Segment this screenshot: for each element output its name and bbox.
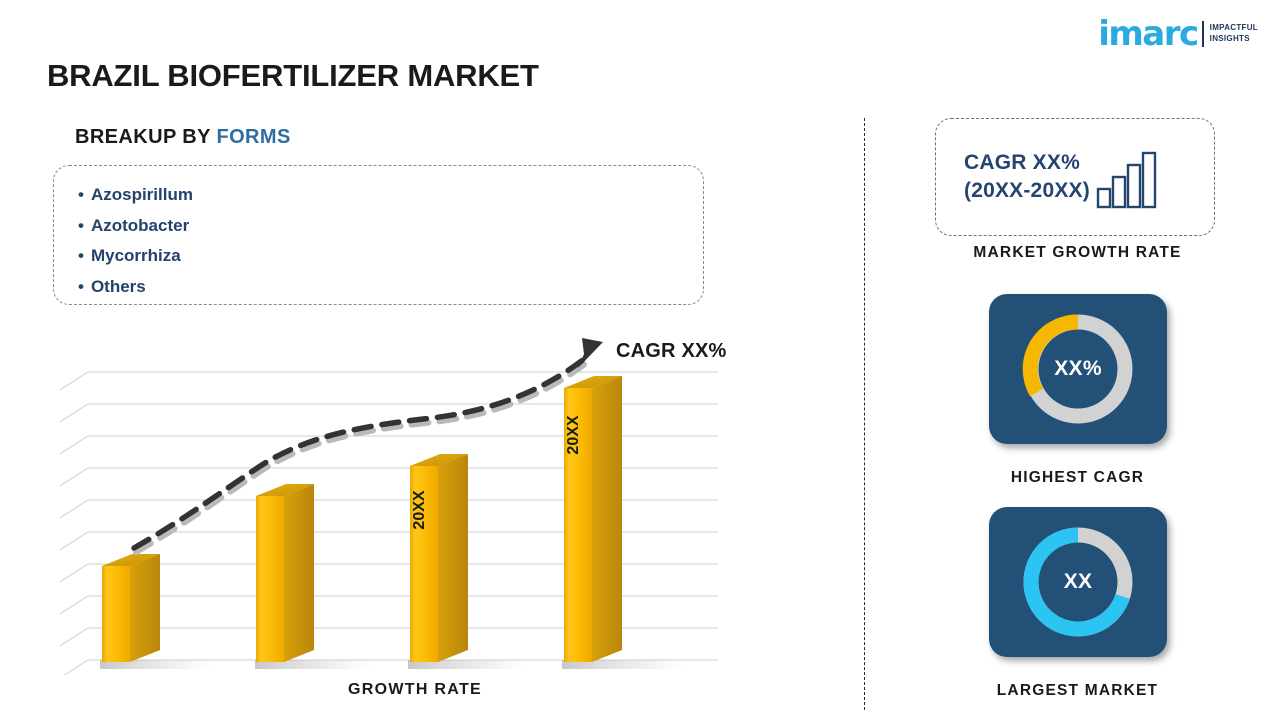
chart-bar-3-label: 20XX xyxy=(411,490,428,529)
highest-cagr-caption: HIGHEST CAGR xyxy=(880,469,1275,487)
largest-market-tile: XX xyxy=(989,507,1167,657)
breakup-heading-accent: FORMS xyxy=(216,126,290,148)
bullet-icon: • xyxy=(78,246,84,265)
largest-market-value: XX xyxy=(1064,570,1093,594)
list-item-label: Mycorrhiza xyxy=(91,246,181,265)
breakup-heading: BREAKUP BY FORMS xyxy=(75,126,291,149)
imarc-logo: imarc IMPACTFUL INSIGHTS xyxy=(1098,14,1258,54)
logo-tagline: IMPACTFUL INSIGHTS xyxy=(1210,23,1258,45)
list-item: •Mycorrhiza xyxy=(78,241,703,272)
page-title: BRAZIL BIOFERTILIZER MARKET xyxy=(47,58,539,94)
arrowhead-icon xyxy=(578,338,603,368)
list-item: •Others xyxy=(78,272,703,303)
market-growth-rate-line1: CAGR XX% xyxy=(964,149,1090,177)
chart-x-axis-label: GROWTH RATE xyxy=(348,681,482,699)
market-growth-rate-card: CAGR XX% (20XX-20XX) xyxy=(935,118,1215,236)
largest-market-caption: LARGEST MARKET xyxy=(880,682,1275,700)
logo-divider xyxy=(1202,21,1204,47)
logo-wordmark: imarc xyxy=(1098,17,1197,51)
chart-bar-3: 20XX xyxy=(410,454,468,662)
panel-divider xyxy=(864,118,865,710)
breakup-heading-prefix: BREAKUP BY xyxy=(75,126,216,148)
bar-chart-icon xyxy=(1096,151,1158,209)
chart-bar-shadows xyxy=(100,660,692,669)
chart-bar-1 xyxy=(102,554,160,662)
chart-cagr-callout: CAGR XX% xyxy=(616,340,727,363)
logo-tagline-line2: INSIGHTS xyxy=(1210,34,1258,45)
bullet-icon: • xyxy=(78,216,84,235)
metrics-panel: CAGR XX% (20XX-20XX) MARKET GROWTH RATE … xyxy=(880,118,1275,710)
highest-cagr-tile: XX% xyxy=(989,294,1167,444)
bullet-icon: • xyxy=(78,185,84,204)
chart-bar-4: 20XX xyxy=(564,376,622,662)
market-growth-rate-caption: MARKET GROWTH RATE xyxy=(880,244,1275,262)
list-item: •Azotobacter xyxy=(78,211,703,242)
list-item-label: Azotobacter xyxy=(91,216,189,235)
list-item-label: Others xyxy=(91,277,146,296)
market-growth-rate-line2: (20XX-20XX) xyxy=(964,177,1090,205)
segments-box: •Azospirillum •Azotobacter •Mycorrhiza •… xyxy=(53,165,704,305)
chart-trend-arrow xyxy=(134,338,603,552)
chart-svg: 20XX 20XX xyxy=(60,330,740,675)
list-item-label: Azospirillum xyxy=(91,185,193,204)
logo-tagline-line1: IMPACTFUL xyxy=(1210,23,1258,34)
bullet-icon: • xyxy=(78,277,84,296)
highest-cagr-value: XX% xyxy=(1054,357,1102,381)
chart-bar-4-label: 20XX xyxy=(565,415,582,454)
market-growth-rate-text: CAGR XX% (20XX-20XX) xyxy=(964,149,1090,205)
list-item: •Azospirillum xyxy=(78,180,703,211)
growth-bar-chart: 20XX 20XX xyxy=(60,330,740,675)
chart-bar-2 xyxy=(256,484,314,662)
